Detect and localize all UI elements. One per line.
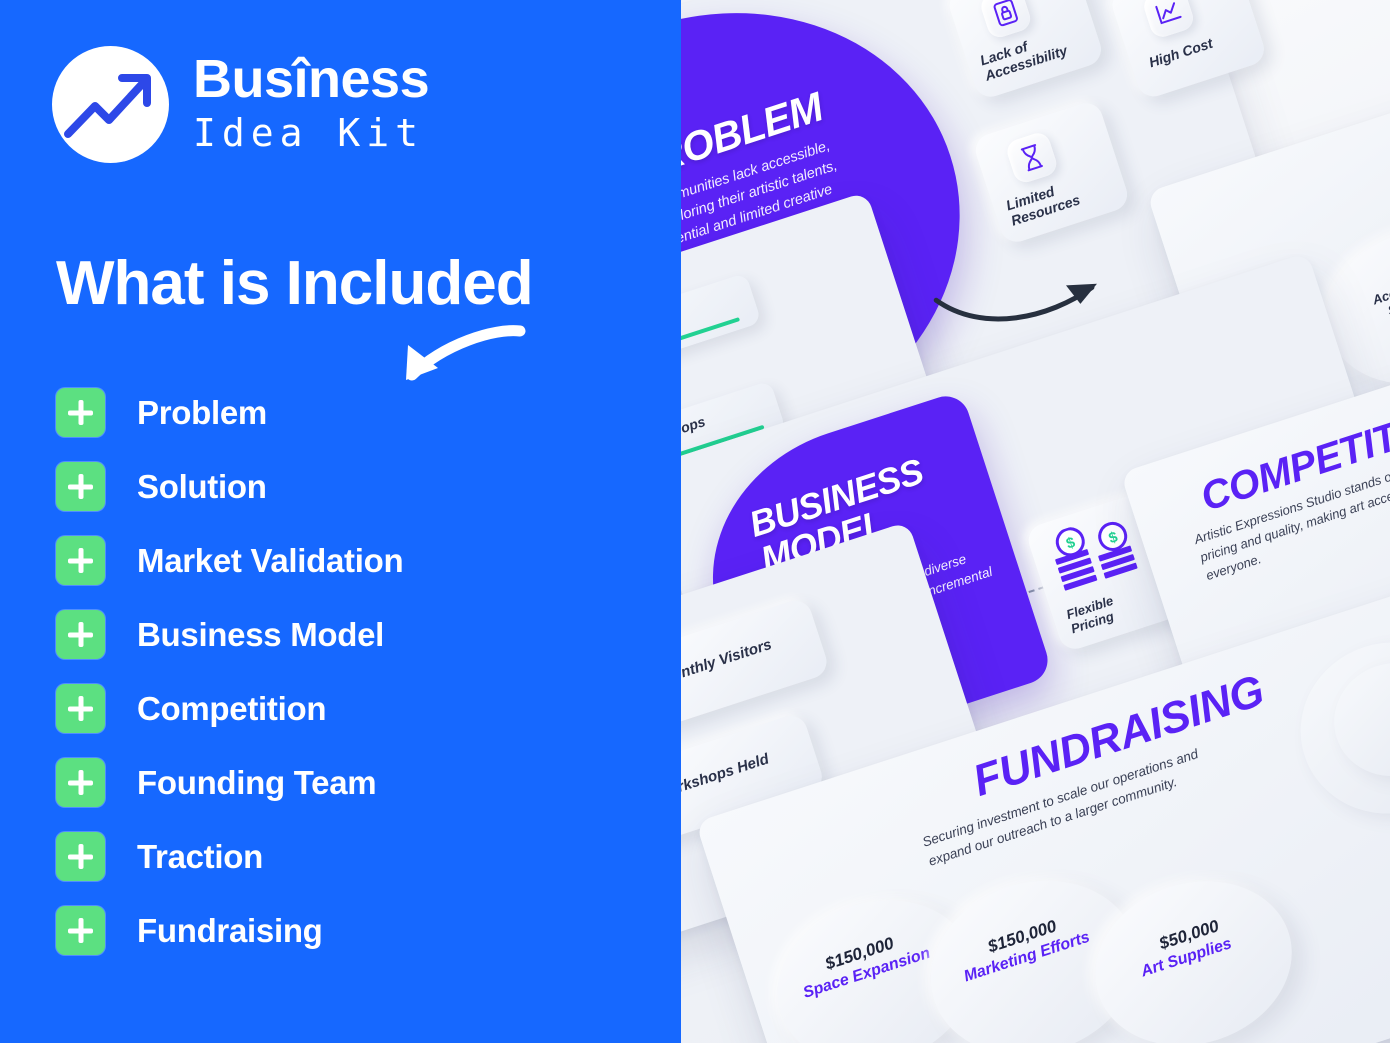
list-item[interactable]: Problem xyxy=(56,388,616,437)
list-item[interactable]: Market Validation xyxy=(56,536,616,585)
list-item-label: Founding Team xyxy=(137,764,376,802)
left-info-panel: Busîness Idea Kit What is Included Probl… xyxy=(0,0,681,1043)
brand-lockup: Busîness Idea Kit xyxy=(52,46,429,163)
list-item[interactable]: Traction xyxy=(56,832,616,881)
pill-progress-bar xyxy=(681,317,740,380)
tile-high-cost[interactable]: High Cost xyxy=(1108,0,1268,101)
hourglass-icon xyxy=(1004,130,1059,185)
slide-preview-stage: THE PROBLEM Many individuals and communi… xyxy=(681,0,1390,1043)
list-item-label: Fundraising xyxy=(137,912,323,950)
list-item-label: Traction xyxy=(137,838,263,876)
tile-label: Monthly Visitors xyxy=(681,636,774,688)
plus-icon xyxy=(56,906,105,955)
list-item[interactable]: Founding Team xyxy=(56,758,616,807)
plus-icon xyxy=(56,388,105,437)
tile-label: High Cost xyxy=(1147,35,1215,71)
tile-label: Limited Resources xyxy=(1004,176,1082,229)
plus-icon xyxy=(56,684,105,733)
blob-label: Accessible Spaces xyxy=(1371,273,1390,322)
logo-mark xyxy=(52,46,169,163)
list-item[interactable]: Business Model xyxy=(56,610,616,659)
included-feature-list: Problem Solution Market Validation Busin… xyxy=(56,388,616,980)
tile-limited-resources[interactable]: Limited Resources xyxy=(971,99,1131,246)
plus-icon xyxy=(56,758,105,807)
list-item-label: Competition xyxy=(137,690,326,728)
list-item[interactable]: Solution xyxy=(56,462,616,511)
pill-drop-in-fees[interactable]: Drop-in Fees xyxy=(681,273,762,390)
page-title: What is Included xyxy=(56,248,533,319)
list-item[interactable]: Competition xyxy=(56,684,616,733)
locked-document-icon xyxy=(978,0,1033,40)
rising-chart-icon xyxy=(1141,0,1196,40)
plus-icon xyxy=(56,462,105,511)
brand-title: Busîness xyxy=(193,52,429,106)
list-item[interactable]: Fundraising xyxy=(56,906,616,955)
tile-label: Workshops Held xyxy=(681,750,771,803)
plus-icon xyxy=(56,536,105,585)
list-item-label: Market Validation xyxy=(137,542,403,580)
tile-label: Lack of Accessibility xyxy=(978,27,1069,84)
list-item-label: Business Model xyxy=(137,616,384,654)
plus-icon xyxy=(56,832,105,881)
tile-monthly-visitors[interactable]: Monthly Visitors xyxy=(681,596,831,728)
tile-lack-of-accessibility[interactable]: Lack of Accessibility xyxy=(945,0,1105,101)
brand-subtitle: Idea Kit xyxy=(193,110,429,158)
list-item-label: Problem xyxy=(137,394,267,432)
plus-icon xyxy=(56,610,105,659)
list-item-label: Solution xyxy=(137,468,267,506)
